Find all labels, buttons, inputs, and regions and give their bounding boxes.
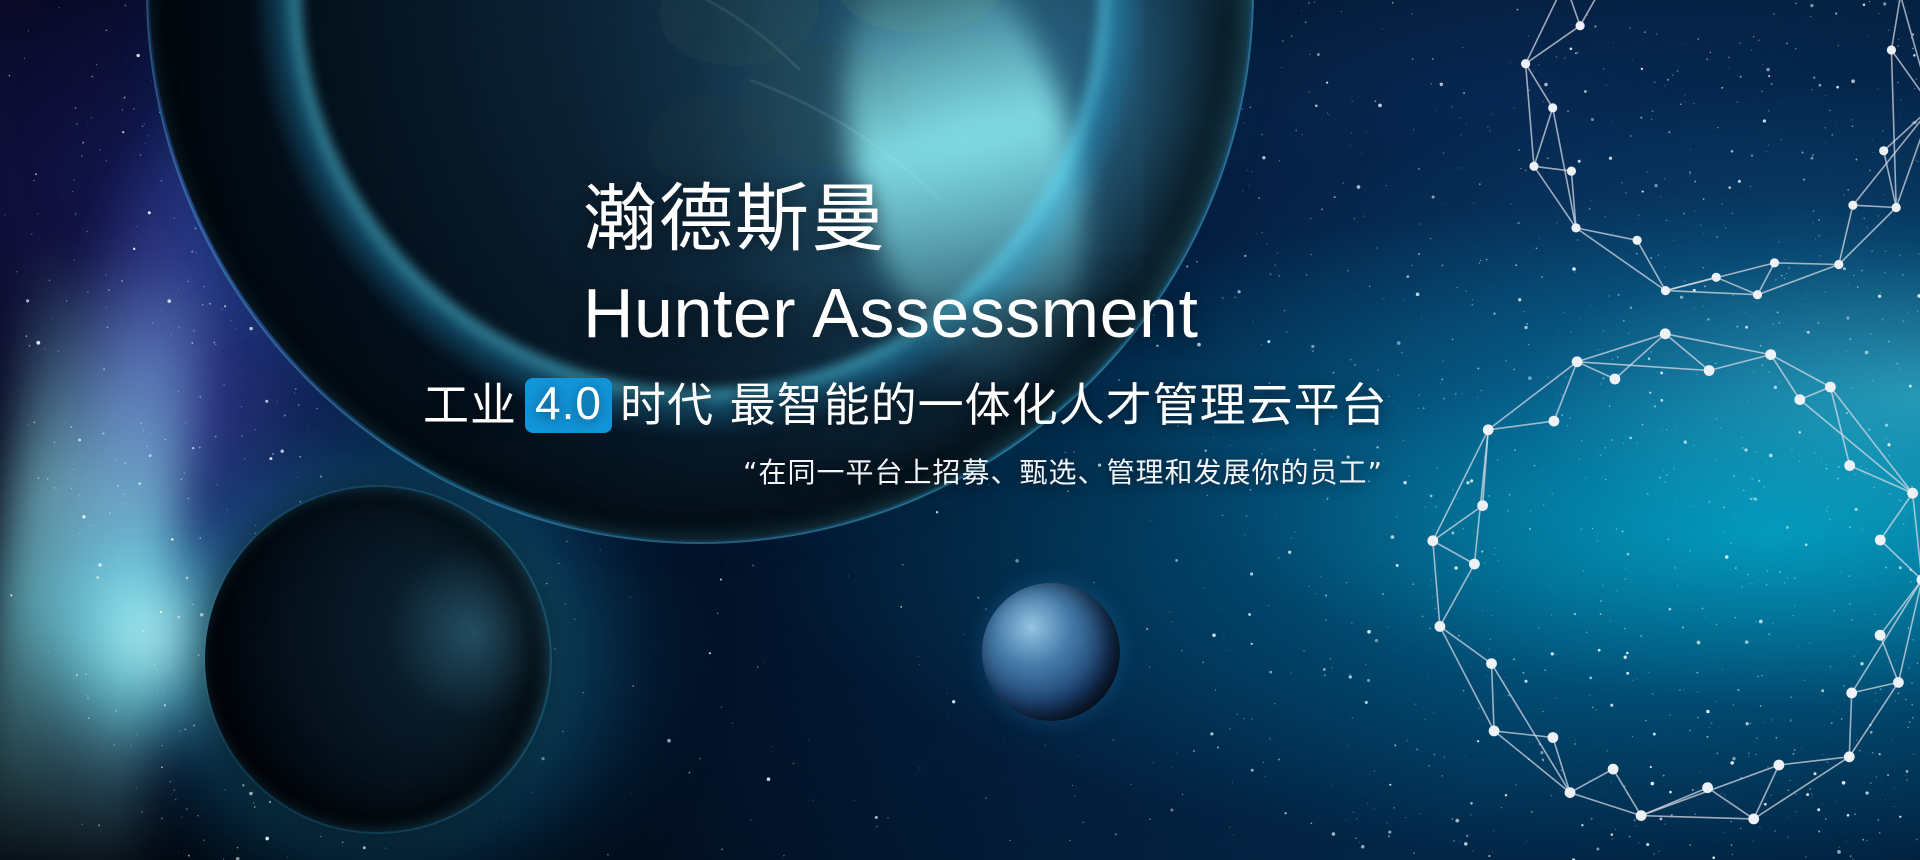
subline-suffix: 时代 最智能的一体化人才管理云平台 bbox=[620, 380, 1388, 431]
nebula-cyan-shaft bbox=[0, 242, 208, 860]
subline: 工业 4.0 时代 最智能的一体化人才管理云平台 bbox=[423, 378, 1583, 433]
page-title-en: Hunter Assessment bbox=[583, 274, 1583, 352]
dark-moon bbox=[205, 487, 550, 832]
nebula-right-top bbox=[0, 0, 560, 380]
hero-banner: 瀚德斯曼 Hunter Assessment 工业 4.0 时代 最智能的一体化… bbox=[0, 0, 1920, 860]
subline-prefix: 工业 bbox=[423, 380, 517, 431]
tagline: “在同一平台上招募、甄选、管理和发展你的员工” bbox=[743, 451, 1583, 491]
hero-copy: 瀚德斯曼 Hunter Assessment 工业 4.0 时代 最智能的一体化… bbox=[583, 180, 1583, 491]
industry-version-badge: 4.0 bbox=[525, 378, 612, 433]
dark-moon-rim bbox=[203, 485, 552, 834]
blue-moon bbox=[982, 583, 1120, 721]
page-title-cn: 瀚德斯曼 bbox=[583, 180, 1583, 260]
